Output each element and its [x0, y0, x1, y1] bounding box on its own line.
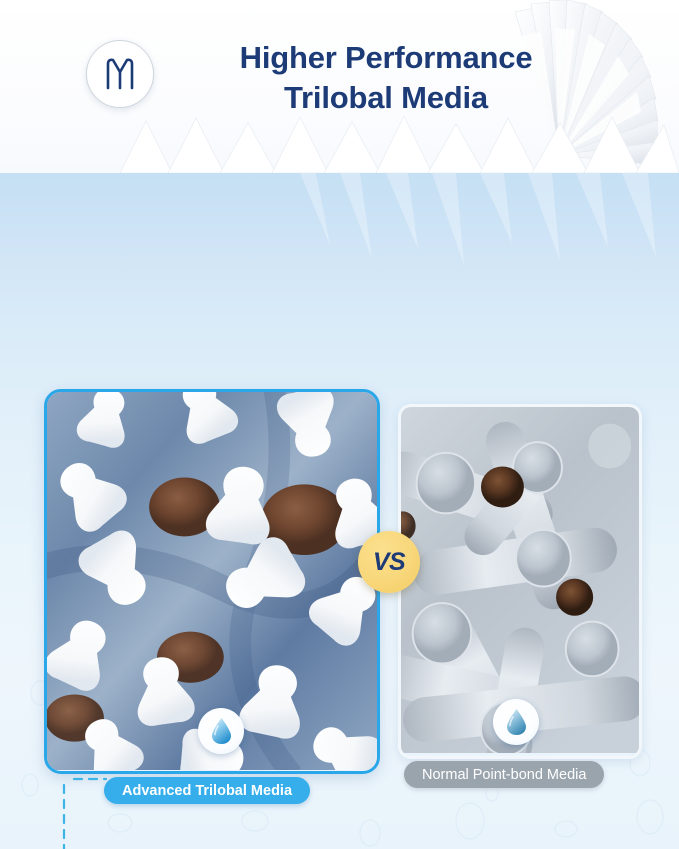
- title-line-1: Higher Performance: [240, 40, 533, 75]
- water-drop-icon: [506, 708, 527, 736]
- label-normal-pointbond-media: Normal Point-bond Media: [404, 761, 604, 788]
- title-line-2: Trilobal Media: [176, 78, 596, 118]
- background-pleats-icon: [0, 173, 679, 403]
- page-title: Higher Performance Trilobal Media: [176, 38, 596, 119]
- comparison-section: VS: [0, 173, 679, 849]
- vs-badge: VS: [358, 531, 420, 593]
- water-drop-badge-left: [198, 708, 244, 754]
- product-infographic: Higher Performance Trilobal Media: [0, 0, 679, 849]
- water-drop-badge-right: [493, 699, 539, 745]
- pleat-band-icon: [0, 113, 679, 173]
- water-drop-icon: [211, 717, 232, 745]
- header-section: Higher Performance Trilobal Media: [0, 0, 679, 173]
- trilobal-monogram-icon: [103, 55, 137, 93]
- brand-logo-badge: [86, 40, 154, 108]
- label-advanced-trilobal-media: Advanced Trilobal Media: [104, 777, 310, 804]
